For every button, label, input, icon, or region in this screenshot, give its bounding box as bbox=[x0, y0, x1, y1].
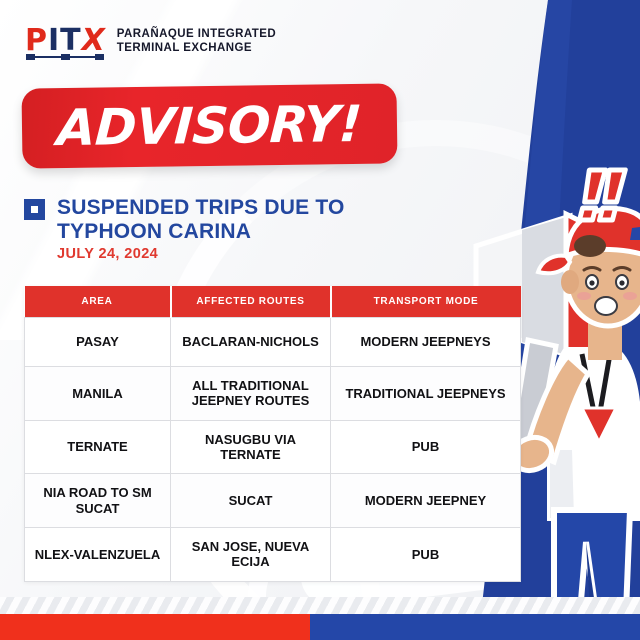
advisory-banner: ADVISORY! bbox=[21, 83, 397, 168]
cell-mode: TRADITIONAL JEEPNEYS bbox=[331, 367, 521, 421]
suspended-trips-table: AREA AFFECTED ROUTES TRANSPORT MODE PASA… bbox=[24, 286, 521, 582]
cell-area: NIA ROAD TO SM SUCAT bbox=[25, 474, 171, 528]
column-header-area: AREA bbox=[25, 286, 171, 318]
column-header-affected-routes: AFFECTED ROUTES bbox=[171, 286, 331, 318]
table-row: TERNATE NASUGBU VIA TERNATE PUB bbox=[25, 420, 521, 474]
table-row: MANILA ALL TRADITIONAL JEEPNEY ROUTES TR… bbox=[25, 367, 521, 421]
advisory-date: JULY 24, 2024 bbox=[57, 246, 158, 262]
bottom-color-bar bbox=[0, 614, 640, 640]
table-row: PASAY BACLARAN-NICHOLS MODERN JEEPNEYS bbox=[25, 318, 521, 367]
cell-area: PASAY bbox=[25, 318, 171, 367]
cell-mode: PUB bbox=[331, 420, 521, 474]
advisory-poster: PITX PARAÑAQUE INTEGRATED TERMINAL EXCHA… bbox=[0, 0, 640, 640]
cell-area: TERNATE bbox=[25, 420, 171, 474]
cell-mode: MODERN JEEPNEY bbox=[331, 474, 521, 528]
brand-name-line2: TERMINAL EXCHANGE bbox=[117, 41, 276, 55]
pitx-logo-mark: PITX bbox=[25, 26, 106, 56]
column-header-transport-mode: TRANSPORT MODE bbox=[331, 286, 521, 318]
brand-name-line1: PARAÑAQUE INTEGRATED bbox=[117, 27, 276, 41]
exclamation-decoration-icon bbox=[576, 166, 632, 224]
cell-routes: BACLARAN-NICHOLS bbox=[171, 318, 331, 367]
bullet-square-icon bbox=[24, 199, 45, 220]
table-row: NIA ROAD TO SM SUCAT SUCAT MODERN JEEPNE… bbox=[25, 474, 521, 528]
cell-area: NLEX-VALENZUELA bbox=[25, 527, 171, 581]
brand-name: PARAÑAQUE INTEGRATED TERMINAL EXCHANGE bbox=[117, 27, 276, 55]
bottom-bar-blue-segment bbox=[310, 614, 640, 640]
cell-routes: SAN JOSE, NUEVA ECIJA bbox=[171, 527, 331, 581]
logo-feet-decoration bbox=[26, 53, 104, 60]
cell-routes: SUCAT bbox=[171, 474, 331, 528]
table-header-row: AREA AFFECTED ROUTES TRANSPORT MODE bbox=[25, 286, 521, 318]
pitx-logo: PITX PARAÑAQUE INTEGRATED TERMINAL EXCHA… bbox=[25, 26, 276, 56]
cell-routes: ALL TRADITIONAL JEEPNEY ROUTES bbox=[171, 367, 331, 421]
hatch-stripe-band bbox=[0, 597, 640, 614]
headline-block: SUSPENDED TRIPS DUE TO TYPHOON CARINA bbox=[24, 196, 444, 245]
cell-routes: NASUGBU VIA TERNATE bbox=[171, 420, 331, 474]
cell-mode: PUB bbox=[331, 527, 521, 581]
bottom-bar-red-segment bbox=[0, 614, 310, 640]
cell-area: MANILA bbox=[25, 367, 171, 421]
table-body: PASAY BACLARAN-NICHOLS MODERN JEEPNEYS M… bbox=[25, 318, 521, 582]
cell-mode: MODERN JEEPNEYS bbox=[331, 318, 521, 367]
table-row: NLEX-VALENZUELA SAN JOSE, NUEVA ECIJA PU… bbox=[25, 527, 521, 581]
advisory-banner-label: ADVISORY! bbox=[56, 95, 364, 157]
page-title: SUSPENDED TRIPS DUE TO TYPHOON CARINA bbox=[57, 196, 444, 245]
